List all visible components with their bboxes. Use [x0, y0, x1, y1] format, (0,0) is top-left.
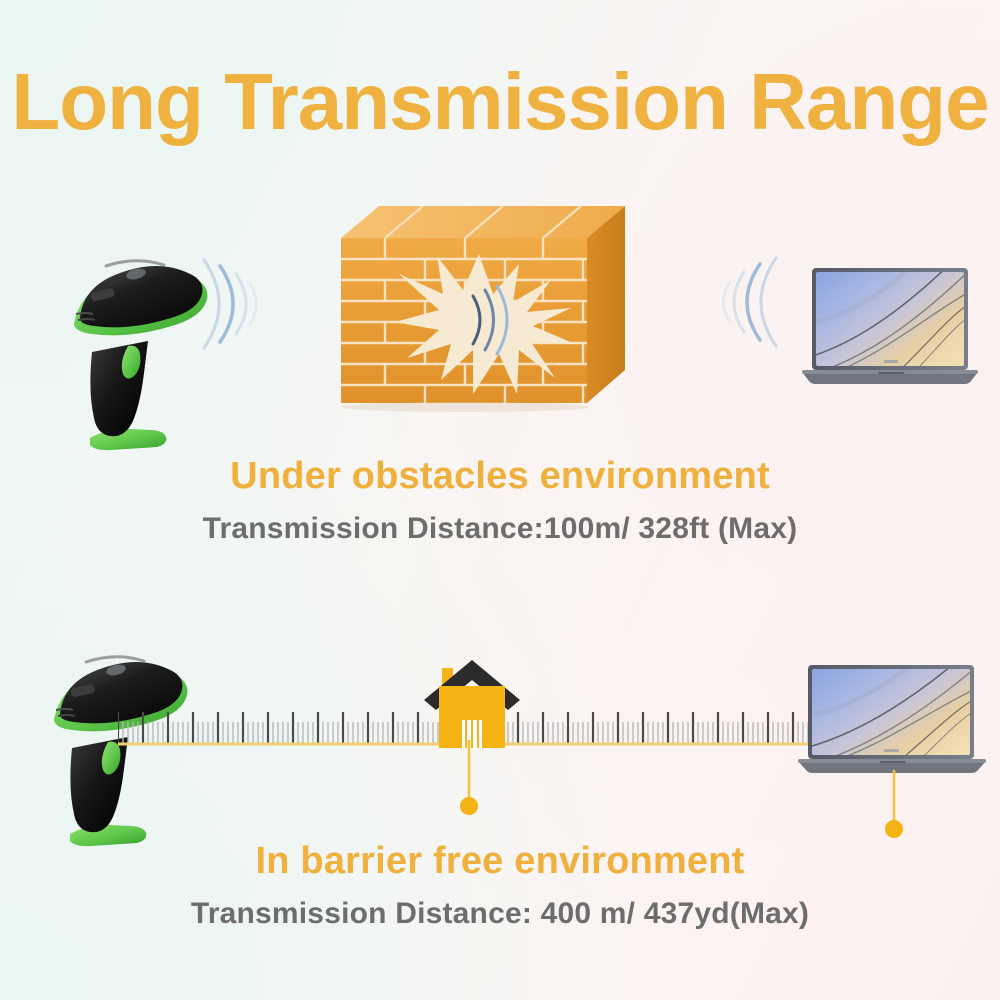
page-title: Long Transmission Range: [0, 62, 1000, 142]
brick-wall-obstacle-icon: [333, 198, 625, 420]
wireless-signal-icon: [196, 254, 266, 354]
infographic-canvas: Long Transmission Range: [0, 0, 1000, 1000]
distance-marker-pin: [882, 770, 906, 850]
distance-marker-pin: [457, 740, 481, 820]
section-heading-barrier-free: In barrier free environment: [0, 840, 1000, 883]
section-subtext-under-obstacles: Transmission Distance:100m/ 328ft (Max): [0, 512, 1000, 546]
section-heading-under-obstacles: Under obstacles environment: [0, 455, 1000, 498]
house-icon: [420, 658, 524, 750]
laptop-icon: [798, 660, 986, 788]
section-subtext-barrier-free: Transmission Distance: 400 m/ 437yd(Max): [0, 897, 1000, 931]
laptop-icon: [800, 262, 980, 402]
wireless-signal-icon: [714, 252, 784, 352]
